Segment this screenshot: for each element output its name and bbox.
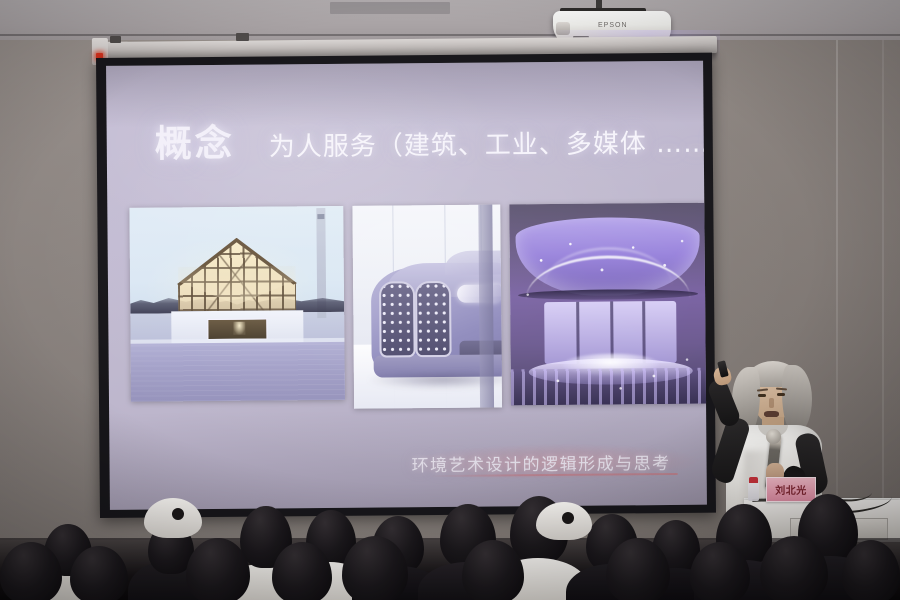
slide-image-car xyxy=(352,204,502,408)
ceiling-panel-slot xyxy=(330,2,450,14)
car-kidney-grille-left xyxy=(379,281,416,357)
slide-image-architecture xyxy=(129,206,345,402)
speaker-hair-right xyxy=(782,365,812,433)
wall-seam xyxy=(882,40,884,540)
slide-title: 概念 为人服务（建筑、工业、多媒体 ……） xyxy=(154,108,706,167)
slide-image-row xyxy=(129,203,707,411)
roller-bracket xyxy=(236,33,249,41)
slide-caption-text: 环境艺术设计的逻辑形成与思考 xyxy=(109,449,670,479)
speaker-nose xyxy=(769,398,774,408)
arch-interior-light xyxy=(233,322,245,335)
cap-logo-icon xyxy=(562,512,574,524)
speaker-eye xyxy=(758,394,766,397)
slide-surface: 概念 为人服务（建筑、工业、多媒体 ……） xyxy=(106,61,707,510)
cap-logo-icon xyxy=(172,508,184,520)
arch-tower-mark xyxy=(317,214,324,219)
ceiling-seam xyxy=(0,34,900,36)
arch-water-ripples xyxy=(130,342,344,402)
projector-lens-icon xyxy=(556,22,570,35)
projector-brand-label: EPSON xyxy=(598,22,628,29)
slide-title-main: 概念 xyxy=(154,113,234,168)
stage-point-lights xyxy=(509,203,707,406)
slide-caption-area: 环境艺术设计的逻辑形成与思考 xyxy=(109,443,706,482)
roller-bracket xyxy=(110,36,121,43)
microphone-head xyxy=(766,429,781,444)
car-kidney-grille-right xyxy=(415,281,452,357)
studio-pillar xyxy=(478,205,494,408)
projection-screen: 概念 为人服务（建筑、工业、多媒体 ……） xyxy=(96,53,716,518)
car-windshield xyxy=(445,250,502,275)
slide-image-multimedia xyxy=(509,203,707,406)
lecture-hall-photo: EPSON 概念 为人服务（建筑、工业、多媒体 ……） xyxy=(0,0,900,600)
slide-title-subtitle: 为人服务（建筑、工业、多媒体 ……） xyxy=(269,122,707,163)
speaker-eye xyxy=(777,393,785,396)
audience: E A xyxy=(0,480,900,600)
